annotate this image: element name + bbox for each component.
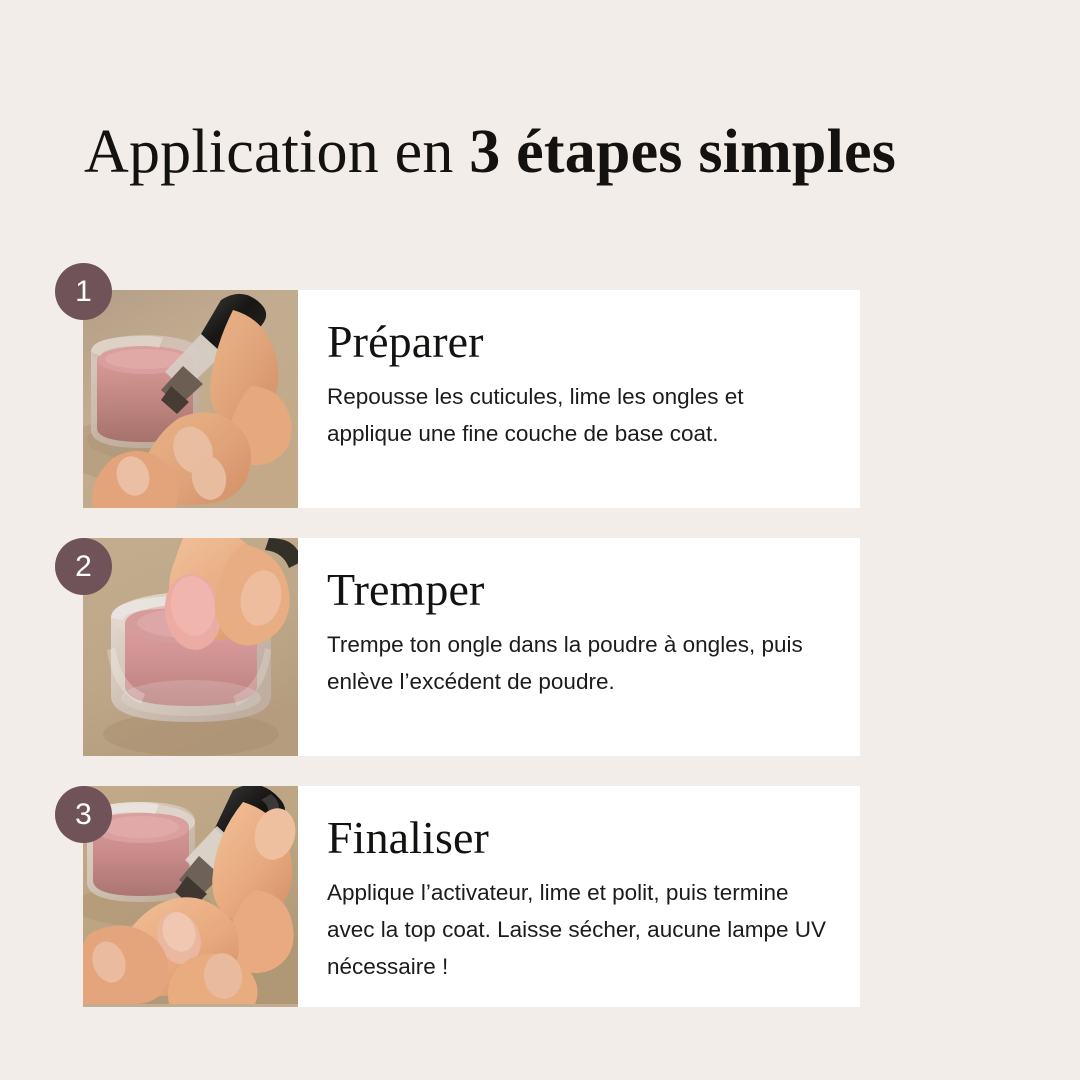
- list-item: 2: [0, 538, 1080, 756]
- step-card: Préparer Repousse les cuticules, lime le…: [83, 290, 860, 508]
- step-card: Finaliser Applique l’activateur, lime et…: [83, 786, 860, 1007]
- page-title: Application en 3 étapes simples: [84, 114, 896, 190]
- step-number-badge: 1: [55, 263, 112, 320]
- step-photo: [83, 290, 298, 508]
- top-coat-photo-icon: [83, 786, 298, 1004]
- step-description: Trempe ton ongle dans la poudre à ongles…: [327, 626, 830, 700]
- step-photo: [83, 538, 298, 756]
- steps-list: 1: [0, 290, 1080, 1007]
- dip-powder-photo-icon: [83, 538, 298, 756]
- step-text: Finaliser Applique l’activateur, lime et…: [298, 786, 860, 1007]
- step-number-badge: 2: [55, 538, 112, 595]
- step-description: Applique l’activateur, lime et polit, pu…: [327, 874, 830, 985]
- step-card: Tremper Trempe ton ongle dans la poudre …: [83, 538, 860, 756]
- nail-prep-photo-icon: [83, 290, 298, 508]
- step-text: Tremper Trempe ton ongle dans la poudre …: [298, 538, 860, 756]
- step-number-badge: 3: [55, 786, 112, 843]
- step-description: Repousse les cuticules, lime les ongles …: [327, 378, 830, 452]
- step-heading: Finaliser: [327, 812, 830, 864]
- step-text: Préparer Repousse les cuticules, lime le…: [298, 290, 860, 508]
- page-title-regular: Application en: [84, 118, 469, 186]
- list-item: 1: [0, 290, 1080, 508]
- step-photo: [83, 786, 298, 1007]
- page-title-bold: 3 étapes simples: [469, 118, 896, 186]
- step-heading: Préparer: [327, 316, 830, 368]
- step-heading: Tremper: [327, 564, 830, 616]
- list-item: 3: [0, 786, 1080, 1007]
- infographic-page: Application en 3 étapes simples 1: [0, 0, 1080, 1080]
